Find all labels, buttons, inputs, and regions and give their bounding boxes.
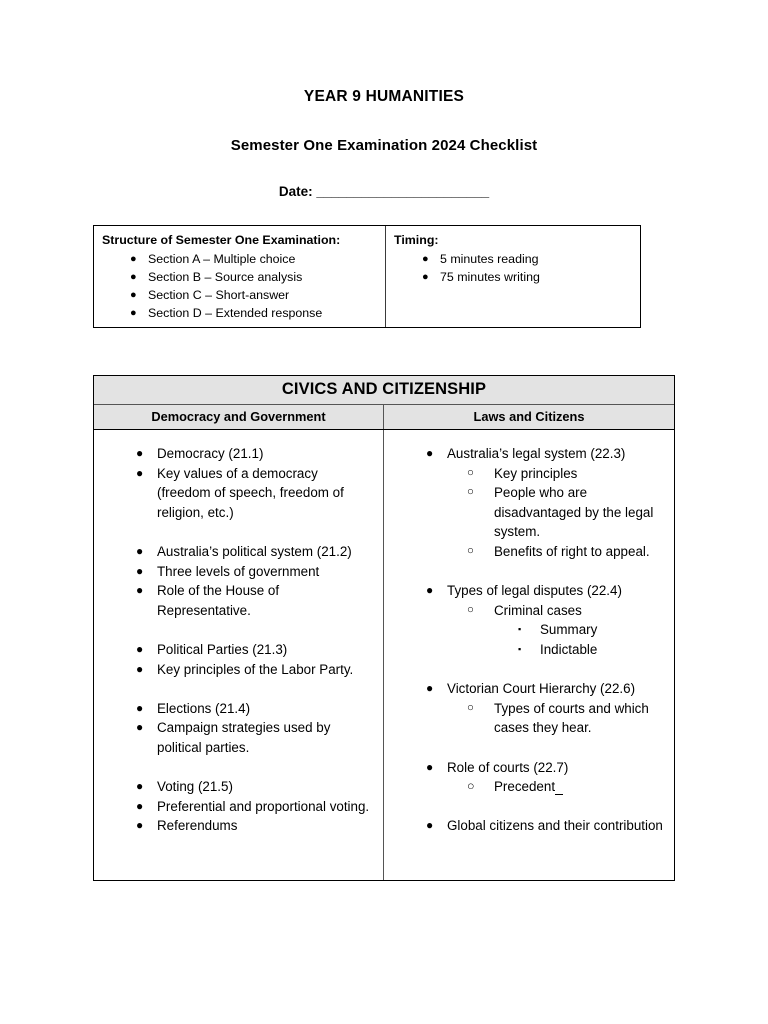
page-subtitle: Semester One Examination 2024 Checklist (0, 137, 768, 154)
list-item-label: 5 minutes reading (440, 252, 539, 266)
checklist-item[interactable]: ○People who are disadvantaged by the leg… (447, 483, 666, 542)
checklist-item-label: Elections (21.4) (157, 701, 250, 716)
subject-title: CIVICS AND CITIZENSHIP (94, 376, 674, 405)
bullet-disc-icon: ● (136, 444, 143, 464)
checklist-item-label: Referendums (157, 818, 237, 833)
checklist-item[interactable]: ●Political Parties (21.3) (102, 640, 375, 660)
group-spacer (102, 758, 375, 778)
list-item-label: Section D – Extended response (148, 306, 322, 320)
bullet-circle-icon: ○ (467, 777, 475, 797)
content-row: ●Democracy (21.1)●Key values of a democr… (94, 430, 674, 880)
checklist-item-label: Criminal cases (494, 603, 582, 618)
checklist-item[interactable]: ●Role of courts (22.7)○Precedent (392, 758, 666, 797)
checklist-item[interactable]: ○Types of courts and which cases they he… (447, 699, 666, 738)
checklist-item-label: Preferential and proportional voting. (157, 799, 369, 814)
bullet-list-level-3: ▪Summary▪Indictable (494, 620, 666, 659)
bullet-disc-icon: ● (130, 268, 137, 286)
bullet-disc-icon: ● (136, 640, 143, 660)
checklist-item[interactable]: ●Preferential and proportional voting. (102, 797, 375, 817)
checklist-item[interactable]: ●Referendums (102, 816, 375, 836)
bullet-list-level-2: ○Types of courts and which cases they he… (447, 699, 666, 738)
checklist-item[interactable]: ●Elections (21.4) (102, 699, 375, 719)
list-item-label: Section B – Source analysis (148, 270, 302, 284)
democracy-content-cell: ●Democracy (21.1)●Key values of a democr… (94, 430, 384, 880)
checklist-item[interactable]: ●Victorian Court Hierarchy (22.6)○Types … (392, 679, 666, 738)
structure-column: Structure of Semester One Examination: ●… (94, 226, 386, 327)
bullet-circle-icon: ○ (467, 542, 474, 562)
structure-heading: Structure of Semester One Examination: (102, 232, 377, 249)
group-spacer (392, 797, 666, 817)
group-spacer (392, 660, 666, 680)
checklist-item-label: Australia’s legal system (22.3) (447, 446, 625, 461)
column-header-democracy: Democracy and Government (94, 405, 384, 429)
checklist-item-label: Indictable (540, 642, 597, 657)
checklist-item[interactable]: ●Role of the House of Representative. (102, 581, 375, 620)
bullet-disc-icon: ● (130, 304, 137, 322)
structure-list-item: ●Section D – Extended response (102, 304, 377, 322)
timing-heading: Timing: (394, 232, 632, 249)
checklist-item[interactable]: ●Key values of a democracy (freedom of s… (102, 464, 375, 523)
bullet-list-level-2: ○Precedent (447, 777, 666, 797)
bullet-disc-icon: ● (130, 250, 137, 268)
checklist-item[interactable]: ●Voting (21.5) (102, 777, 375, 797)
list-item-label: 75 minutes writing (440, 270, 540, 284)
bullet-disc-icon: ● (136, 816, 143, 836)
bullet-disc-icon: ● (136, 718, 143, 738)
timing-column: Timing: ●5 minutes reading●75 minutes wr… (386, 226, 640, 327)
list-item-label: Section C – Short-answer (148, 288, 289, 302)
bullet-disc-icon: ● (426, 816, 433, 836)
bullet-list-level-2: ○Criminal cases▪Summary▪Indictable (447, 601, 666, 660)
checklist-item[interactable]: ○Precedent (447, 777, 666, 797)
checklist-item-label: Democracy (21.1) (157, 446, 263, 461)
bullet-disc-icon: ● (136, 660, 143, 680)
list-item-label: Section A – Multiple choice (148, 252, 295, 266)
bullet-list-level-1: ●Global citizens and their contribution (392, 816, 666, 836)
checklist-item[interactable]: ●Three levels of government (102, 562, 375, 582)
checklist-item-label: Summary (540, 622, 597, 637)
checklist-item-label: Role of courts (22.7) (447, 760, 568, 775)
checklist-item[interactable]: ●Global citizens and their contribution (392, 816, 666, 836)
checklist-item-label: Types of courts and which cases they hea… (494, 701, 649, 736)
structure-list-item: ●Section B – Source analysis (102, 268, 377, 286)
structure-list-item: ●Section C – Short-answer (102, 286, 377, 304)
bullet-list-level-1: ●Australia’s political system (21.2)●Thr… (102, 542, 375, 620)
bullet-disc-icon: ● (136, 581, 143, 601)
bullet-list-level-1: ●Voting (21.5)●Preferential and proporti… (102, 777, 375, 836)
checklist-item[interactable]: ○Criminal cases▪Summary▪Indictable (447, 601, 666, 660)
bullet-circle-icon: ○ (467, 601, 474, 621)
bullet-disc-icon: ● (426, 581, 433, 601)
bullet-list-level-1: ●Types of legal disputes (22.4)○Criminal… (392, 581, 666, 659)
bullet-disc-icon: ● (130, 286, 137, 304)
timing-list: ●5 minutes reading●75 minutes writing (394, 250, 632, 286)
bullet-list-level-1: ●Elections (21.4)●Campaign strategies us… (102, 699, 375, 758)
column-header-laws: Laws and Citizens (384, 405, 674, 429)
checklist-item[interactable]: ●Key principles of the Labor Party. (102, 660, 375, 680)
checklist-item-label: Victorian Court Hierarchy (22.6) (447, 681, 635, 696)
checklist-item[interactable]: ○Benefits of right to appeal. (447, 542, 666, 562)
bullet-list-level-1: ●Democracy (21.1)●Key values of a democr… (102, 444, 375, 522)
bullet-list-level-1: ●Role of courts (22.7)○Precedent (392, 758, 666, 797)
bullet-disc-icon: ● (136, 562, 143, 582)
checklist-item-label: Types of legal disputes (22.4) (447, 583, 622, 598)
checklist-item[interactable]: ○Key principles (447, 464, 666, 484)
bullet-disc-icon: ● (422, 268, 429, 286)
bullet-disc-icon: ● (136, 777, 143, 797)
bullet-disc-icon: ● (136, 542, 143, 562)
group-spacer (102, 620, 375, 640)
bullet-list-level-1: ●Australia’s legal system (22.3)○Key pri… (392, 444, 666, 562)
bullet-disc-icon: ● (426, 679, 433, 699)
checklist-item[interactable]: ▪Indictable (494, 640, 666, 660)
civics-citizenship-table: CIVICS AND CITIZENSHIP Democracy and Gov… (93, 375, 675, 881)
bullet-disc-icon: ● (422, 250, 429, 268)
checklist-item[interactable]: ●Australia’s political system (21.2) (102, 542, 375, 562)
group-spacer (102, 679, 375, 699)
bullet-square-icon: ▪ (518, 620, 521, 640)
checklist-item-label: Voting (21.5) (157, 779, 233, 794)
checklist-item[interactable]: ▪Summary (494, 620, 666, 640)
checklist-item-label: Campaign strategies used by political pa… (157, 720, 330, 755)
document-page: YEAR 9 HUMANITIES Semester One Examinati… (0, 0, 768, 1024)
checklist-item-label: Precedent (494, 779, 563, 795)
bullet-square-icon: ▪ (518, 640, 521, 660)
bullet-disc-icon: ● (136, 699, 143, 719)
checklist-item-label: Global citizens and their contribution (447, 818, 663, 833)
checklist-item-label: Australia’s political system (21.2) (157, 544, 352, 559)
timing-list-item: ●5 minutes reading (394, 250, 632, 268)
date-field-label[interactable]: Date: _______________________ (0, 184, 768, 199)
checklist-item-label: People who are disadvantaged by the lega… (494, 485, 653, 539)
bullet-list-level-2: ○Key principles○People who are disadvant… (447, 464, 666, 562)
blank-underline (555, 779, 562, 795)
page-title: YEAR 9 HUMANITIES (0, 88, 768, 106)
bullet-disc-icon: ● (136, 797, 143, 817)
checklist-item-label: Benefits of right to appeal. (494, 544, 650, 559)
bullet-disc-icon: ● (136, 464, 143, 484)
timing-list-item: ●75 minutes writing (394, 268, 632, 286)
checklist-item-label: Key principles (494, 466, 577, 481)
checklist-item[interactable]: ●Types of legal disputes (22.4)○Criminal… (392, 581, 666, 659)
bullet-disc-icon: ● (426, 758, 433, 778)
bullet-circle-icon: ○ (467, 464, 474, 484)
group-spacer (392, 562, 666, 582)
bullet-circle-icon: ○ (467, 699, 474, 719)
column-header-row: Democracy and Government Laws and Citize… (94, 405, 674, 430)
structure-list: ●Section A – Multiple choice●Section B –… (102, 250, 377, 322)
group-spacer (102, 522, 375, 542)
laws-content-cell: ●Australia’s legal system (22.3)○Key pri… (384, 430, 674, 880)
checklist-item[interactable]: ●Campaign strategies used by political p… (102, 718, 375, 757)
structure-list-item: ●Section A – Multiple choice (102, 250, 377, 268)
checklist-item-label: Role of the House of Representative. (157, 583, 279, 618)
checklist-item-label: Key principles of the Labor Party. (157, 662, 353, 677)
checklist-item-label: Three levels of government (157, 564, 319, 579)
checklist-item[interactable]: ●Democracy (21.1) (102, 444, 375, 464)
bullet-circle-icon: ○ (467, 483, 474, 503)
bullet-disc-icon: ● (426, 444, 433, 464)
checklist-item-label: Political Parties (21.3) (157, 642, 287, 657)
checklist-item-label: Key values of a democracy (freedom of sp… (157, 466, 344, 520)
exam-structure-table: Structure of Semester One Examination: ●… (93, 225, 641, 328)
group-spacer (392, 738, 666, 758)
bullet-list-level-1: ●Victorian Court Hierarchy (22.6)○Types … (392, 679, 666, 738)
checklist-item[interactable]: ●Australia’s legal system (22.3)○Key pri… (392, 444, 666, 562)
bullet-list-level-1: ●Political Parties (21.3)●Key principles… (102, 640, 375, 679)
